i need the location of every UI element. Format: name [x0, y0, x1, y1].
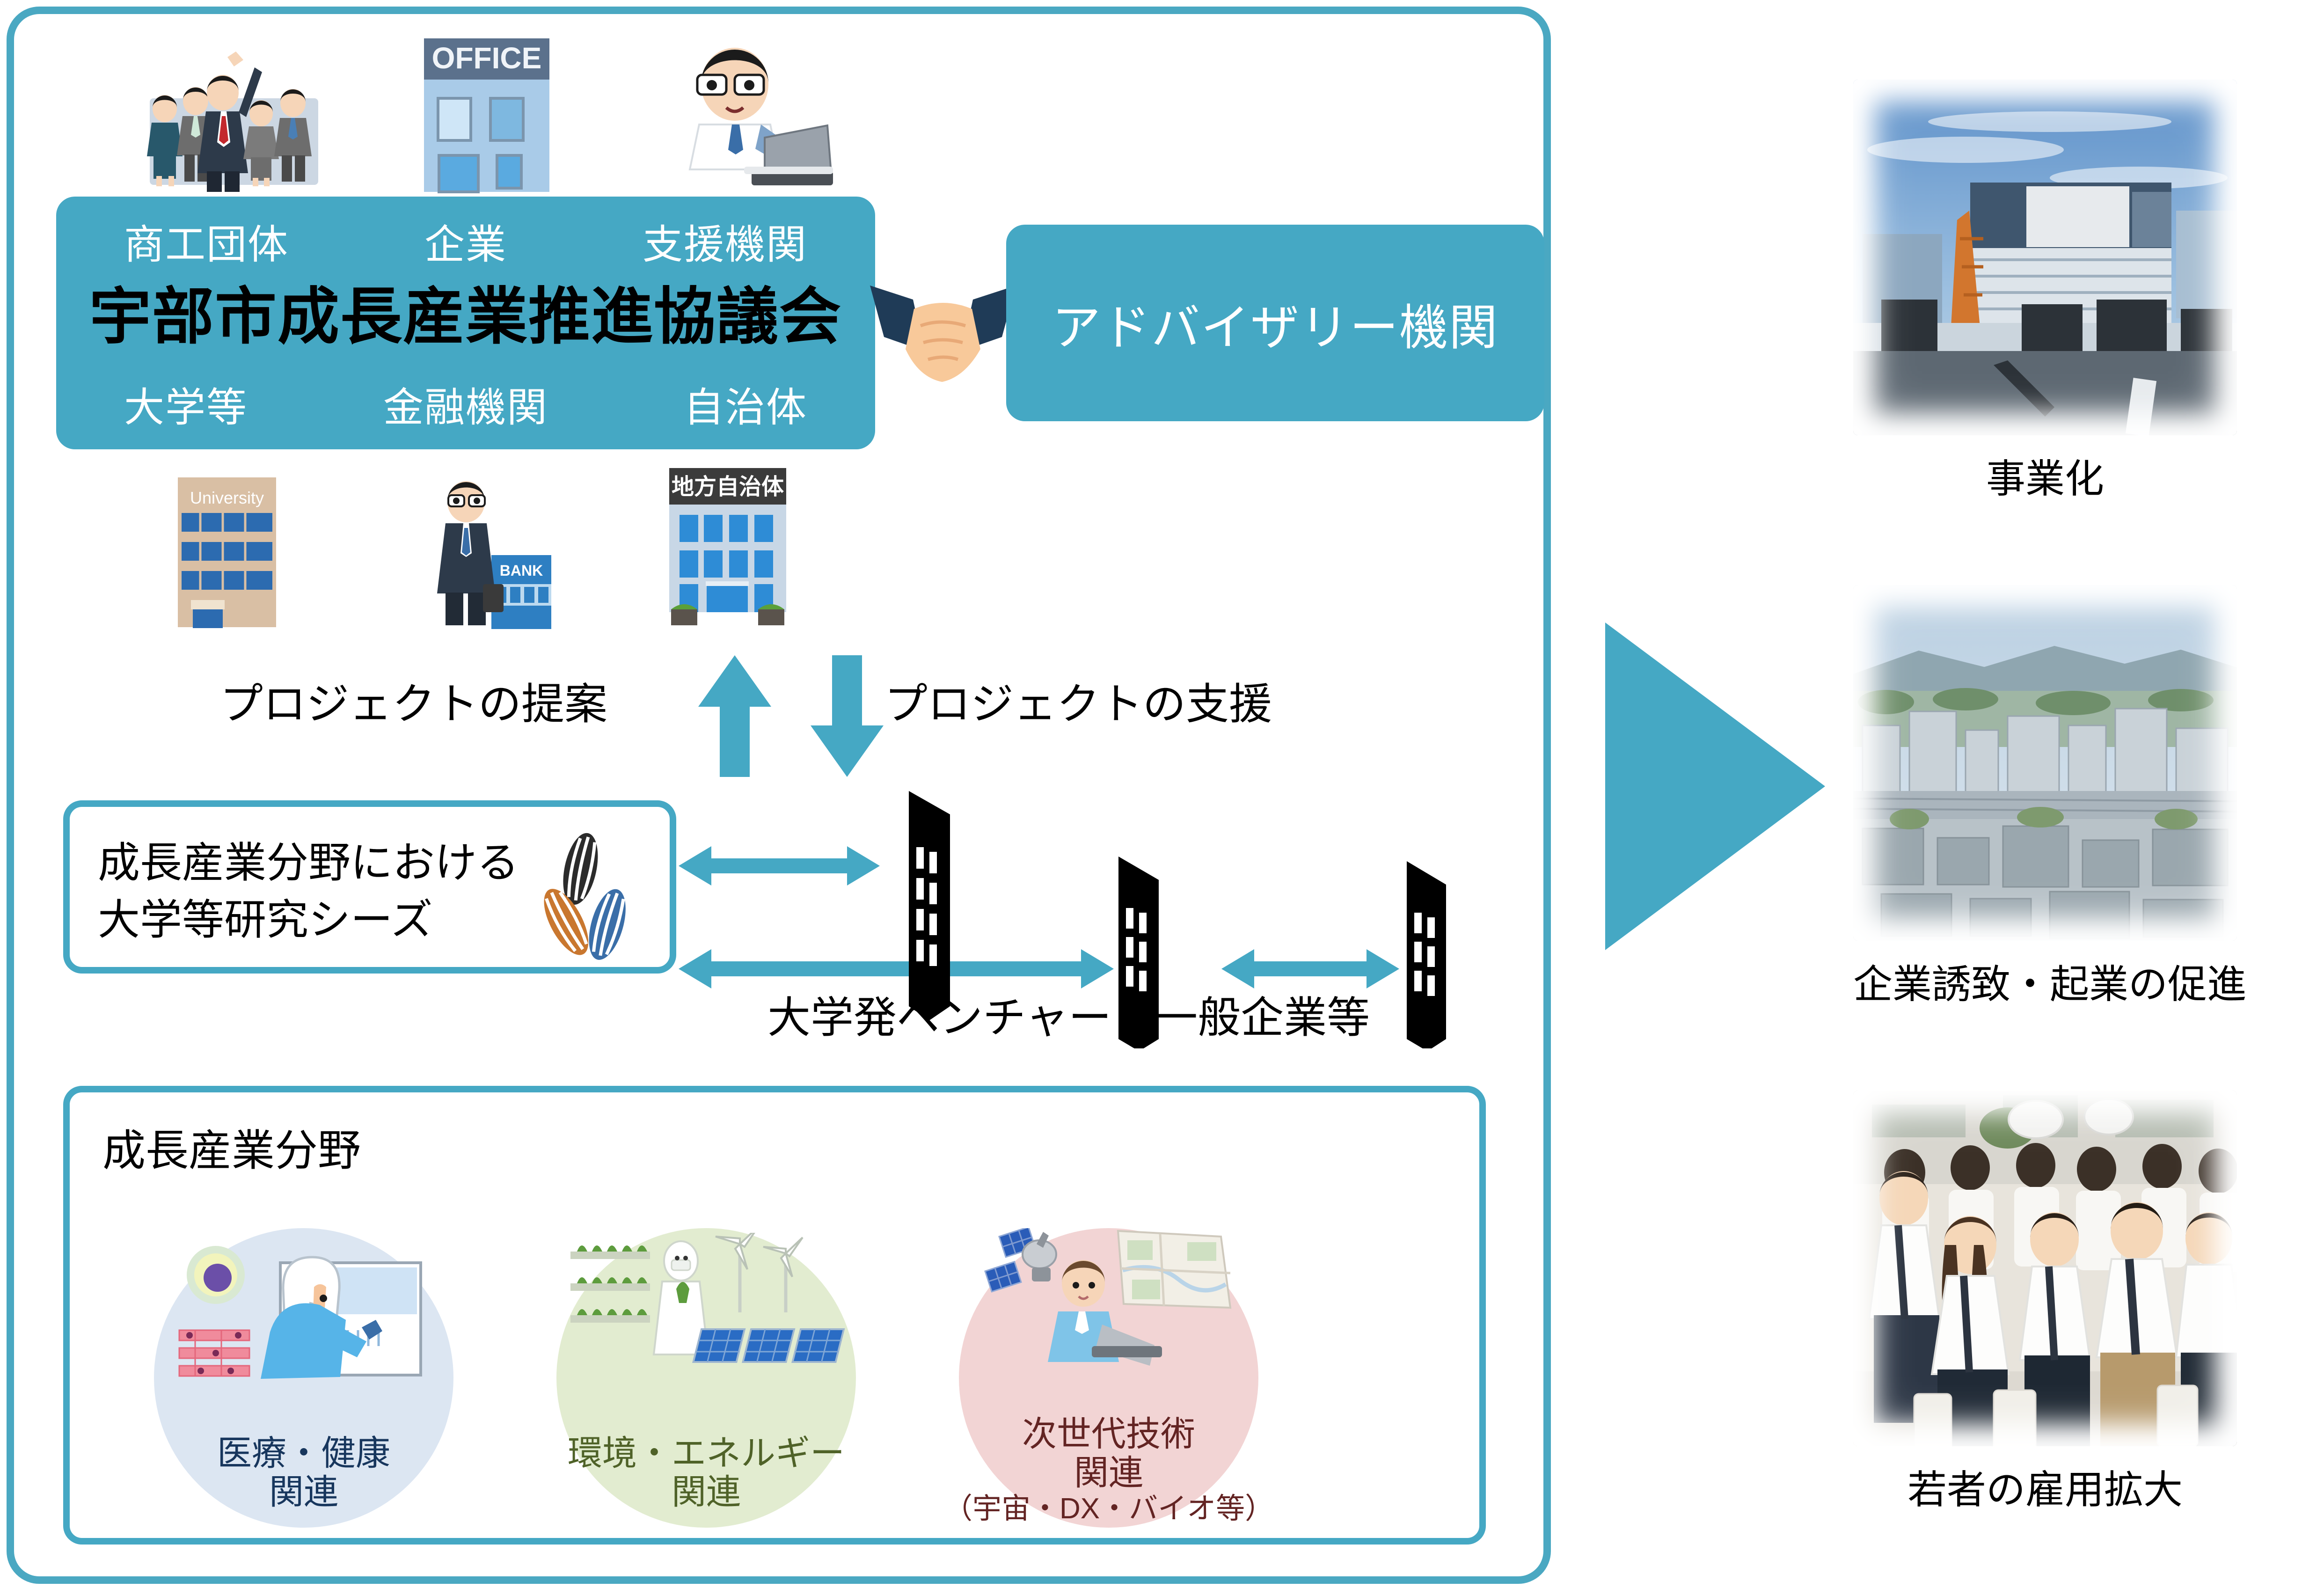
field-medical-health[interactable]: 医療・健康 関連 — [154, 1228, 453, 1528]
outcome-caption-commercialization: 事業化 — [1853, 447, 2237, 504]
field-environment-line1: 環境・エネルギー — [568, 1434, 845, 1473]
council-bottom-members: 大学等 金融機関 自治体 — [56, 374, 875, 433]
outcome-photo-company-attraction — [1853, 585, 2237, 941]
seeds-line-1: 成長産業分野における — [98, 835, 519, 892]
council-member-kinyu: 金融機関 — [383, 374, 548, 433]
field-nextgen-line2: 関連 — [1074, 1454, 1143, 1493]
outcome-photo-youth-employment — [1853, 1091, 2237, 1446]
university-building-icon: University — [173, 473, 281, 632]
support-staff-laptop-icon — [665, 33, 833, 192]
field-nextgen-line3: （宇宙・DX・バイオ等） — [943, 1493, 1274, 1525]
environment-energy-icon — [566, 1233, 847, 1392]
council-member-jichitai: 自治体 — [684, 374, 807, 433]
diagram-canvas: OFFICE 商工団体 企業 支援機関 宇部市成長産業推進協議会 大学等 金融機… — [0, 0, 2302, 1596]
council-member-kigyo: 企業 — [424, 212, 507, 270]
banker-with-bank-icon: BANK — [421, 473, 552, 632]
council-top-members: 商工団体 企業 支援機関 — [56, 212, 875, 270]
council-title: 宇部市成長産業推進協議会 — [56, 267, 875, 356]
field-medical-line2: 関連 — [269, 1473, 338, 1512]
local-government-building-icon: 地方自治体 — [660, 463, 796, 632]
venture-building-3-icon — [1407, 861, 1446, 1048]
outcome-company-attraction: 企業誘致・起業の促進 — [1853, 585, 2237, 1010]
field-next-gen-technology[interactable]: 次世代技術 関連 （宇宙・DX・バイオ等） — [959, 1228, 1258, 1528]
field-nextgen-line1: 次世代技術 — [1022, 1415, 1195, 1454]
handshake-icon — [868, 281, 1018, 388]
medical-research-icon — [173, 1238, 435, 1393]
office-building-icon: OFFICE — [412, 28, 562, 197]
support-down-arrow-icon — [810, 655, 884, 777]
business-people-group-icon — [136, 37, 356, 192]
outcome-commercialization: 事業化 — [1853, 80, 2237, 504]
bank-sign-label: BANK — [500, 562, 543, 579]
council-member-shien: 支援機関 — [643, 212, 807, 270]
next-gen-technology-icon — [978, 1228, 1240, 1369]
office-sign-label: OFFICE — [432, 41, 542, 75]
growth-fields-title: 成長産業分野 — [102, 1116, 361, 1178]
advisory-label: アドバイザリー機関 — [1052, 288, 1498, 359]
project-proposal-label: プロジェクトの提案 — [220, 669, 607, 732]
outcome-caption-company-attraction: 企業誘致・起業の促進 — [1853, 953, 2237, 1010]
growth-fields-box: 成長産業分野 — [63, 1086, 1486, 1545]
council-member-daigaku: 大学等 — [124, 374, 248, 433]
local-gov-sign-label: 地方自治体 — [672, 475, 784, 499]
project-support-label: プロジェクトの支援 — [884, 669, 1272, 732]
research-seeds-text: 成長産業分野における 大学等研究シーズ — [98, 835, 519, 949]
outcome-caption-youth-employment: 若者の雇用拡大 — [1853, 1458, 2237, 1515]
university-sign-label: University — [190, 488, 264, 507]
council-member-shoko: 商工団体 — [124, 212, 289, 270]
seeds-line-2: 大学等研究シーズ — [98, 892, 519, 949]
venture-caption: 大学発ベンチャー・一般企業等 — [767, 983, 1370, 1045]
research-seeds-icon — [517, 823, 658, 963]
field-medical-line1: 医療・健康 — [217, 1434, 390, 1473]
council-panel: 商工団体 企業 支援機関 宇部市成長産業推進協議会 大学等 金融機関 自治体 — [56, 197, 875, 449]
field-environment-energy[interactable]: 環境・エネルギー 関連 — [556, 1228, 856, 1528]
outcome-arrow-icon — [1605, 622, 1825, 950]
outcome-youth-employment: 若者の雇用拡大 — [1853, 1091, 2237, 1515]
research-seeds-box: 成長産業分野における 大学等研究シーズ — [63, 800, 676, 974]
outcome-photo-commercialization — [1853, 80, 2237, 435]
seeds-to-venture-arrow-top-icon — [679, 846, 880, 886]
proposal-up-arrow-icon — [697, 655, 772, 777]
field-environment-line2: 関連 — [672, 1473, 741, 1512]
advisory-panel: アドバイザリー機関 — [1006, 225, 1544, 421]
